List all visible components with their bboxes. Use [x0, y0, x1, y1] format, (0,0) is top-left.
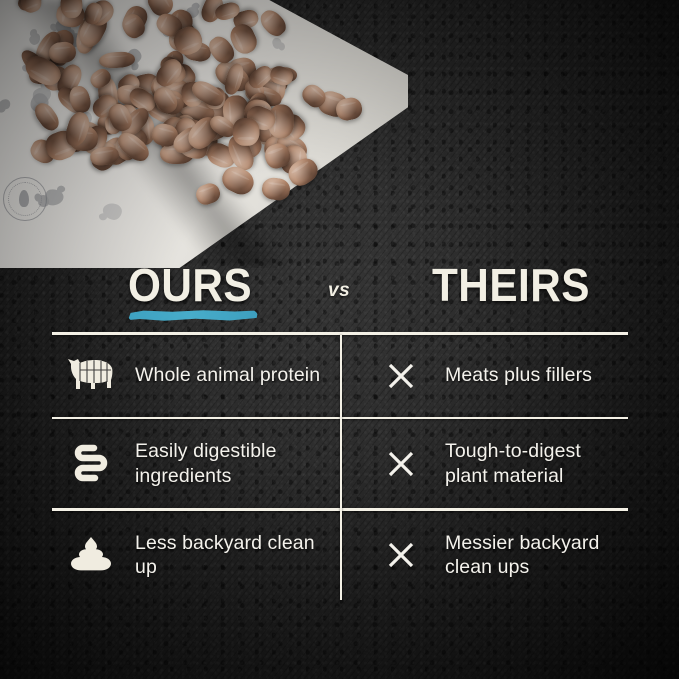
header-vs: vs	[328, 280, 350, 302]
x-mark-icon	[374, 532, 428, 578]
cell-theirs: Tough-to-digest plant material	[340, 419, 628, 508]
cell-ours: Easily digestible ingredients	[52, 419, 340, 508]
row-label-ours: Easily digestible ingredients	[135, 439, 324, 488]
header-theirs: THEIRS	[432, 258, 590, 312]
cell-ours: Whole animal protein	[52, 335, 340, 417]
kibble-piece	[233, 118, 260, 146]
stool-icon	[64, 532, 118, 578]
product-photo	[0, 0, 408, 268]
row-label-ours: Whole animal protein	[135, 363, 320, 388]
header-ours: OURS	[128, 258, 252, 312]
ours-brush-underline	[128, 310, 258, 321]
cell-theirs: Meats plus fillers	[340, 335, 628, 417]
x-mark-icon	[374, 441, 428, 487]
comparison-rows: Whole animal protein Meats plus fillers	[52, 335, 628, 600]
table-headers: OURS vs THEIRS	[52, 258, 628, 332]
comparison-infographic: OURS vs THEIRS	[0, 0, 679, 679]
intestine-icon	[64, 441, 118, 487]
cow-butcher-cuts-icon	[64, 353, 118, 399]
cell-theirs: Messier backyard clean ups	[340, 511, 628, 600]
row-label-theirs: Tough-to-digest plant material	[445, 439, 612, 488]
divider-vertical	[340, 335, 342, 600]
row-label-theirs: Messier backyard clean ups	[445, 531, 612, 580]
row-label-ours: Less backyard clean up	[135, 531, 324, 580]
cell-ours: Less backyard clean up	[52, 511, 340, 600]
comparison-table: OURS vs THEIRS	[52, 258, 628, 600]
x-mark-icon	[374, 353, 428, 399]
row-label-theirs: Meats plus fillers	[445, 363, 592, 388]
